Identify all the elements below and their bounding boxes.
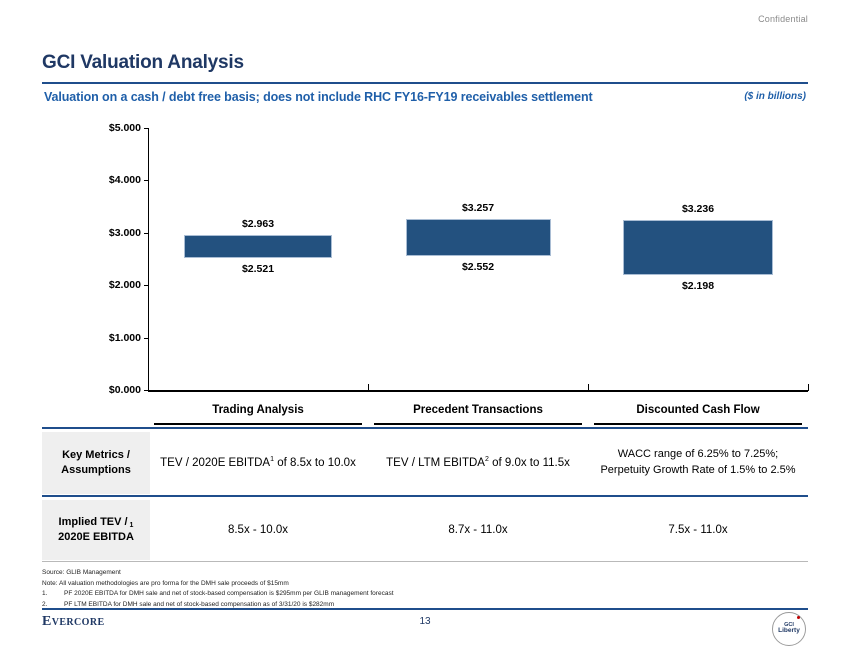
y-axis-tick-mark [144,180,149,181]
table-cell-text: 8.5x - 10.0x [228,524,288,536]
table-row-label-text: Key Metrics /Assumptions [61,448,131,478]
y-axis-tick-mark [144,338,149,339]
category-label: Trading Analysis [148,404,368,416]
footnote-number: 1. [42,589,64,600]
table-cell-text: of 8.5x to 10.0x [274,457,356,469]
table-cell-text: 8.7x - 11.0x [448,524,507,536]
table-cell: 7.5x - 11.0x [584,522,812,539]
bar-high-label: $2.963 [198,218,318,230]
bar-low-label: $2.198 [638,280,758,292]
y-axis-tick-mark [144,233,149,234]
y-axis-tick-mark [144,285,149,286]
logo-line-2: Liberty [778,628,800,635]
y-axis-tick-label: $5.000 [109,122,141,134]
table-cell-text: TEV / 2020E EBITDA [160,457,270,469]
y-axis-tick-label: $2.000 [109,279,141,291]
table-row-divider [42,427,808,429]
table-cell: WACC range of 6.25% to 7.25%;Perpetuity … [584,447,812,479]
table-cell-text: WACC range of 6.25% to 7.25%; [618,448,778,460]
footnote-marker: 1 [128,522,134,529]
table-row-label: Implied TEV / 12020E EBITDA [42,500,150,560]
chart-x-axis [148,390,808,392]
table-cell-text: TEV / LTM EBITDA [386,457,485,469]
bar-high-label: $3.257 [418,202,538,214]
category-label: Discounted Cash Flow [588,404,808,416]
table-cell-text: Perpetuity Growth Rate of 1.5% to 2.5% [600,464,795,476]
range-bar [406,219,551,256]
bar-high-label: $3.236 [638,203,758,215]
table-cell-text: 7.5x - 11.0x [668,524,727,536]
footnote-text: PF 2020E EBITDA for DMH sale and net of … [64,590,394,597]
logo-dot-icon [797,616,800,619]
footnote-source: Source: GLIB Management [42,568,394,579]
footnote-item-1: 1.PF 2020E EBITDA for DMH sale and net o… [42,589,394,600]
range-bar [184,235,332,258]
y-axis-tick-mark [144,390,149,391]
category-separator-tick [808,384,809,391]
table-cell: 8.5x - 10.0x [144,522,372,539]
footer-divider [42,608,808,610]
category-underline [594,423,802,425]
table-cell: TEV / LTM EBITDA2 of 9.0x to 11.5x [364,455,592,472]
category-separator-tick [368,384,369,391]
bar-low-label: $2.552 [418,261,538,273]
category-separator-tick [588,384,589,391]
table-row-divider [42,495,808,497]
y-axis-tick-mark [144,128,149,129]
range-bar [623,220,773,274]
table-bottom-divider [42,561,808,562]
gci-liberty-logo: GCI Liberty [772,612,806,646]
footnotes-block: Source: GLIB Management Note: All valuat… [42,568,394,610]
y-axis-tick-label: $3.000 [109,227,141,239]
table-cell: 8.7x - 11.0x [364,522,592,539]
bar-low-label: $2.521 [198,263,318,275]
footnote-text: PF LTM EBITDA for DMH sale and net of st… [64,601,334,608]
category-underline [374,423,582,425]
table-cell-text: of 9.0x to 11.5x [489,457,570,469]
y-axis-tick-label: $1.000 [109,332,141,344]
table-cell: TEV / 2020E EBITDA1 of 8.5x to 10.0x [144,455,372,472]
chart-y-axis [148,128,149,391]
y-axis-tick-label: $0.000 [109,384,141,396]
table-row-label-text: Implied TEV / 12020E EBITDA [58,515,134,545]
category-underline [154,423,362,425]
y-axis-tick-label: $4.000 [109,174,141,186]
page-number: 13 [0,616,850,627]
footnote-note: Note: All valuation methodologies are pr… [42,579,394,590]
category-label: Precedent Transactions [368,404,588,416]
table-row-label: Key Metrics /Assumptions [42,432,150,494]
